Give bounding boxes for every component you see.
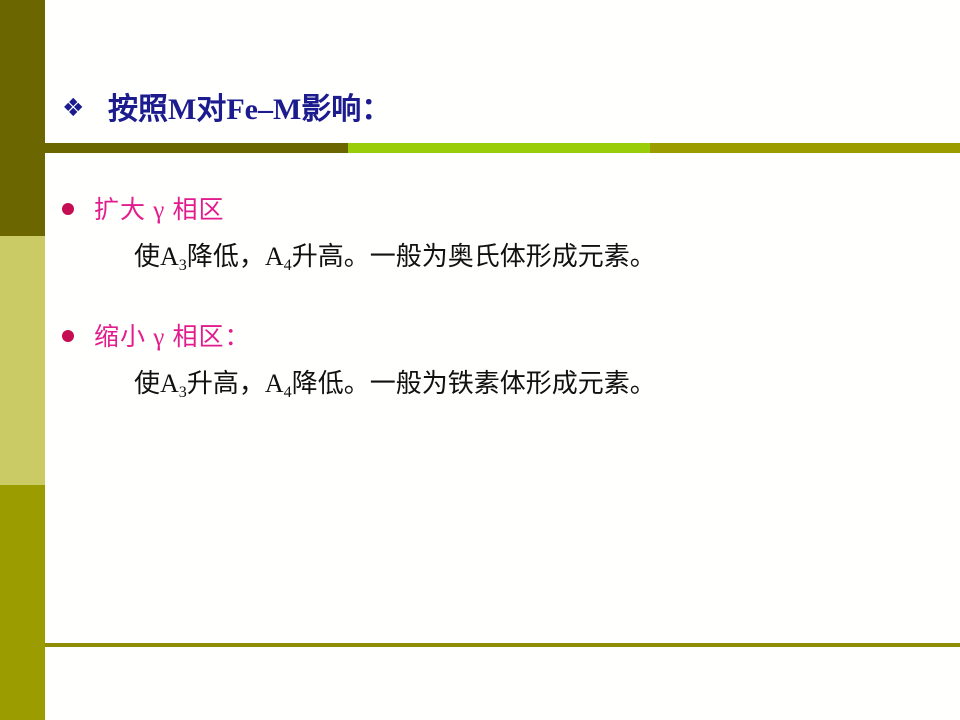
detail-prefix: 使A [134,242,179,271]
bullet-detail-expand-gamma: 使A3降低，A4升高。一般为奥氏体形成元素。 [134,236,922,273]
round-bullet-icon [62,330,74,342]
bullet-detail-shrink-gamma: 使A3升高，A4降低。一般为铁素体形成元素。 [134,363,922,400]
footer-divider [45,643,960,647]
page-title: 按照M对Fe–M影响： [108,84,391,128]
title-divider [45,143,960,153]
slide-title-row: ❖ 按照M对Fe–M影响： [62,84,391,128]
title-divider-segment-olive [650,143,960,153]
slide-body: 扩大 γ 相区 使A3降低，A4升高。一般为奥氏体形成元素。 缩小 γ 相区： … [62,190,922,400]
detail-prefix: 使A [134,369,179,398]
bullet-block-expand-gamma: 扩大 γ 相区 使A3降低，A4升高。一般为奥氏体形成元素。 [62,190,922,273]
detail-suffix: 降低。一般为铁素体形成元素。 [292,369,656,398]
bullet-heading-expand-gamma: 扩大 γ 相区 [94,190,225,226]
presentation-slide: ❖ 按照M对Fe–M影响： 扩大 γ 相区 使A3降低，A4升高。一般为奥氏体形… [0,0,960,720]
sidebar-color-bands [0,0,45,720]
detail-subscript-a4: 4 [284,257,292,274]
detail-subscript-a4: 4 [284,384,292,401]
detail-mid: 升高，A [187,369,284,398]
detail-mid: 降低，A [187,242,284,271]
sidebar-band-olive [0,485,45,720]
detail-subscript-a3: 3 [179,384,187,401]
bullet-block-shrink-gamma: 缩小 γ 相区： 使A3升高，A4降低。一般为铁素体形成元素。 [62,317,922,400]
detail-subscript-a3: 3 [179,257,187,274]
sidebar-band-dark-olive [0,0,45,236]
bullet-heading-shrink-gamma: 缩小 γ 相区： [94,317,251,353]
bullet-heading-row: 扩大 γ 相区 [62,190,922,226]
bullet-heading-row: 缩小 γ 相区： [62,317,922,353]
round-bullet-icon [62,203,74,215]
sidebar-band-light-yellow-green [0,236,45,485]
detail-suffix: 升高。一般为奥氏体形成元素。 [292,242,656,271]
title-divider-segment-bright-green [348,143,650,153]
title-divider-segment-dark-olive [45,143,348,153]
diamond-cluster-bullet-icon: ❖ [62,95,96,120]
